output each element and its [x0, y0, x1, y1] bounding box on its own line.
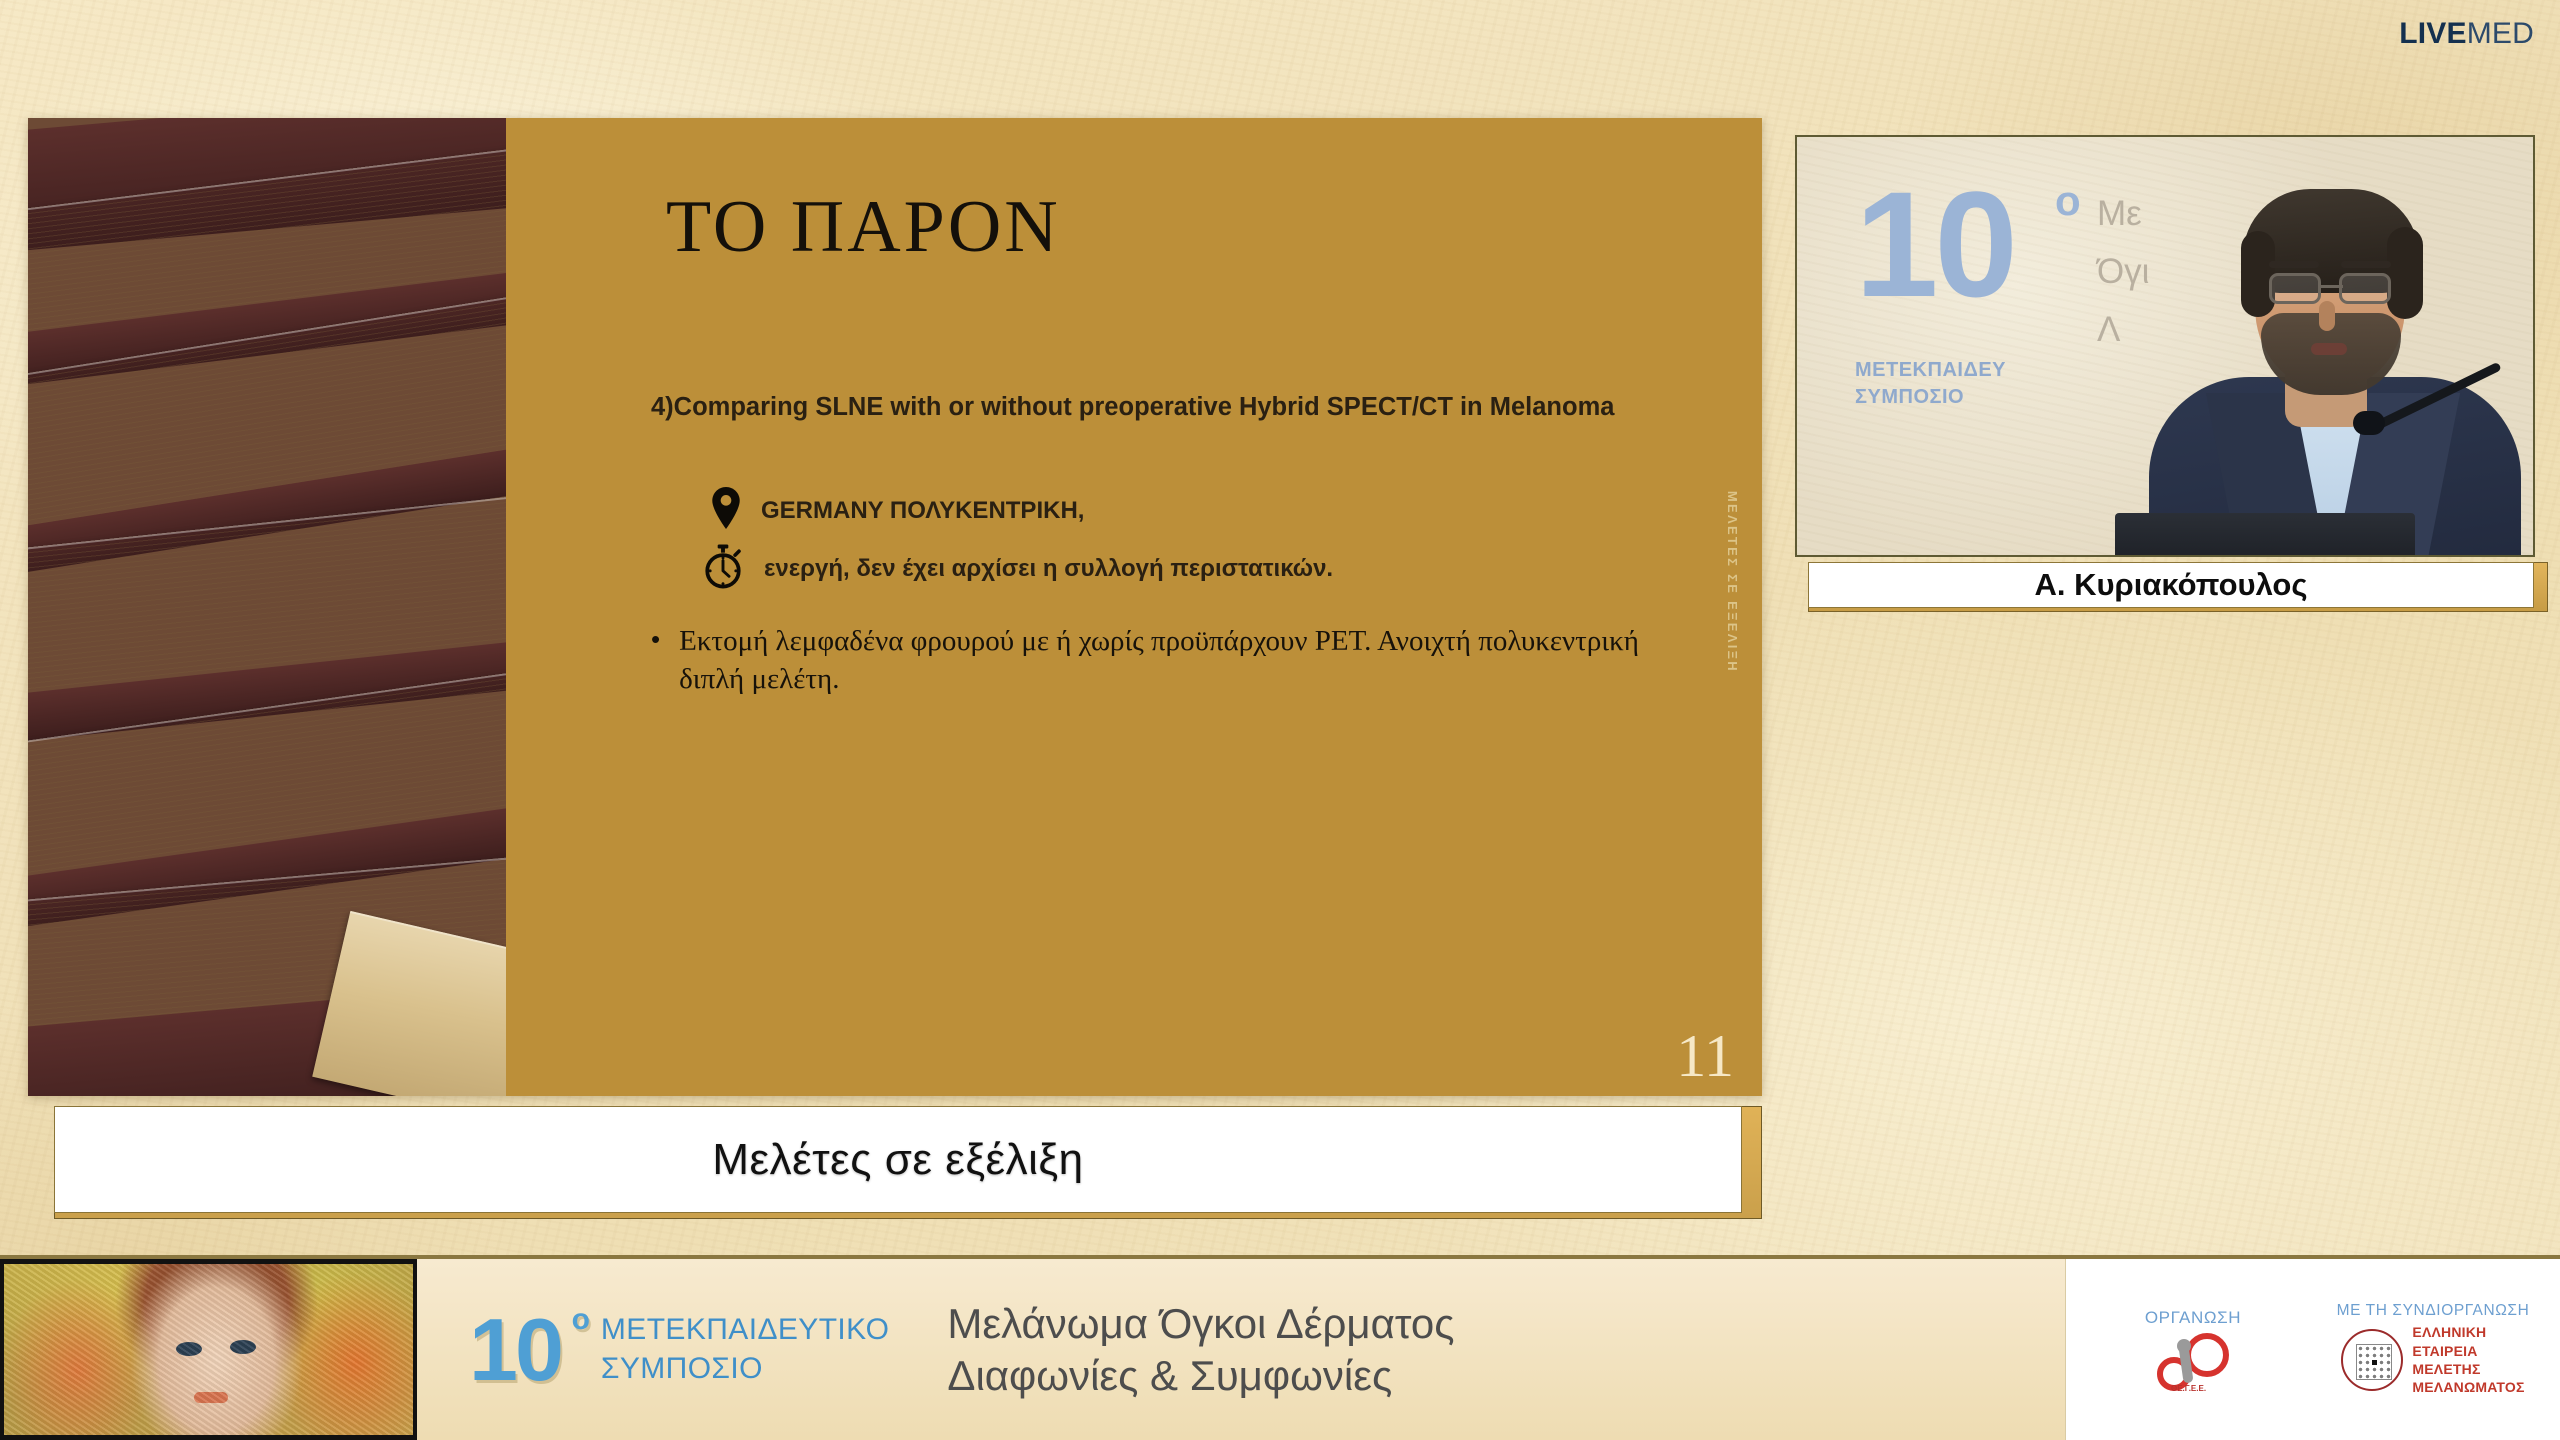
name-box: Α. Κυριακόπουλος [1808, 562, 2534, 608]
microphone-icon [2353, 411, 2385, 435]
map-pin-icon [711, 487, 741, 534]
speaker-video-feed[interactable]: 10 o ΜΕΤΕΚΠΑΙΔΕΥΣΥΜΠΟΣΙΟ ΜεΌγιΛ [1795, 135, 2535, 557]
speaker-hair-right [2387, 227, 2423, 319]
speaker-figure [2115, 161, 2535, 557]
bullet-marker: • [651, 623, 660, 698]
bottom-banner: 10 o ΜΕΤΕΚΠΑΙΔΕΥΤΙΚΟ ΣΥΜΠΟΣΙΟ Μελάνωμα Ό… [0, 1255, 2560, 1440]
caption-box: Μελέτες σε εξέλιξη [54, 1106, 1742, 1213]
theme-line-1: Μελάνωμα Όγκοι Δέρματος [947, 1298, 1454, 1349]
backdrop-number: 10 [1855, 175, 2014, 313]
organizer-label: ΟΡΓΑΝΩΣΗ [2145, 1308, 2241, 1328]
location-text: GERMANY ΠΟΛΥΚΕΝΤΡΙΚΗ, [761, 497, 1084, 525]
livemed-logo-live: LIVE [2399, 17, 2466, 50]
caption-text: Μελέτες σε εξέλιξη [712, 1135, 1083, 1185]
symposium-branding: 10 o ΜΕΤΕΚΠΑΙΔΕΥΤΙΚΟ ΣΥΜΠΟΣΙΟ Μελάνωμα Ό… [417, 1259, 2065, 1440]
caption-bar: Μελέτες σε εξέλιξη [54, 1106, 1762, 1219]
portrait-eye-right [230, 1340, 256, 1354]
speaker-name: Α. Κυριακόπουλος [2035, 567, 2308, 603]
symposium-line-2: ΣΥΜΠΟΣΙΟ [601, 1350, 890, 1388]
organizers-box: ΟΡΓΑΝΩΣΗ ΘΕ.Γ.Ε.Ε. ΜΕ ΤΗ ΣΥΝΔΙΟΡΓΑΝΩΣΗ Ε… [2065, 1259, 2560, 1440]
stopwatch-icon [702, 543, 744, 594]
speaker-name-plate: Α. Κυριακόπουλος [1808, 562, 2548, 612]
banner-number: 10 [469, 1300, 561, 1399]
coorganizer-column: ΜΕ ΤΗ ΣΥΝΔΙΟΡΓΑΝΩΣΗ ΕΛΛΗΝΙΚΗΕΤΑΙΡΕΙΑΜΕΛΕ… [2316, 1302, 2550, 1397]
slide-heading: 4)Comparing SLNE with or without preoper… [651, 391, 1651, 425]
speaker-eyebrow-left [2269, 261, 2319, 268]
speaker-nose [2319, 301, 2335, 331]
melanoma-society-seal-icon [2341, 1329, 2403, 1391]
glasses-lens-right-icon [2339, 273, 2391, 304]
livemed-logo: LIVEMED [2399, 19, 2534, 49]
location-row: GERMANY ΠΟΛΥΚΕΝΤΡΙΚΗ, [711, 487, 1084, 534]
coorganizer-name: ΕΛΛΗΝΙΚΗΕΤΑΙΡΕΙΑΜΕΛΕΤΗΣΜΕΛΑΝΩΜΑΤΟΣ [2412, 1323, 2524, 1397]
bullet-text: Εκτομή λεμφαδένα φρουρού με ή χωρίς προϋ… [679, 623, 1661, 698]
slide-vertical-label: ΜΕΛΕΤΕΣ ΣΕ ΕΞΕΛΙΞΗ [1725, 491, 1740, 673]
glasses-bridge-icon [2319, 285, 2343, 288]
slide-page-number: 11 [1676, 1026, 1734, 1086]
glasses-lens-left-icon [2269, 273, 2321, 304]
speaker-mouth [2311, 343, 2347, 355]
symposium-theme: Μελάνωμα Όγκοι Δέρματος Διαφωνίες & Συμφ… [947, 1298, 1454, 1400]
status-text: ενεργή, δεν έχει αρχίσει η συλλογή περισ… [764, 555, 1333, 583]
portrait-artwork [0, 1259, 417, 1440]
livemed-logo-med: MED [2467, 17, 2534, 50]
theme-line-2: Διαφωνίες & Συμφωνίες [947, 1350, 1454, 1401]
organizer-abbr: ΘΕ.Γ.Ε.Ε. [2171, 1384, 2206, 1393]
banner-number-group: 10 o [469, 1310, 561, 1389]
portrait-painting [4, 1264, 413, 1435]
presentation-slide[interactable]: ΤΟ ΠΑΡΟΝ 4)Comparing SLNE with or withou… [28, 118, 1762, 1096]
laptop [2115, 513, 2415, 557]
symposium-label: ΜΕΤΕΚΠΑΙΔΕΥΤΙΚΟ ΣΥΜΠΟΣΙΟ [601, 1311, 890, 1388]
portrait-lips [194, 1392, 228, 1403]
organizer-logo-icon: ΘΕ.Γ.Ε.Ε. [2157, 1331, 2229, 1391]
speaker-hair-left [2241, 231, 2275, 317]
status-row: ενεργή, δεν έχει αρχίσει η συλλογή περισ… [702, 543, 1333, 594]
slide-content: ΤΟ ΠΑΡΟΝ 4)Comparing SLNE with or withou… [506, 118, 1762, 1096]
portrait-eye-left [176, 1342, 202, 1356]
organizer-column: ΟΡΓΑΝΩΣΗ ΘΕ.Γ.Ε.Ε. [2076, 1308, 2310, 1391]
backdrop-symposium-text: ΜΕΤΕΚΠΑΙΔΕΥΣΥΜΠΟΣΙΟ [1855, 357, 2006, 411]
coorganizer-label: ΜΕ ΤΗ ΣΥΝΔΙΟΡΓΑΝΩΣΗ [2337, 1302, 2530, 1320]
slide-title: ΤΟ ΠΑΡΟΝ [666, 190, 1061, 264]
stacked-books-image [28, 118, 506, 1096]
bullet-item: • Εκτομή λεμφαδένα φρουρού με ή χωρίς πρ… [651, 623, 1661, 698]
banner-degree: o [572, 1306, 587, 1333]
coorganizer-logo-row: ΕΛΛΗΝΙΚΗΕΤΑΙΡΕΙΑΜΕΛΕΤΗΣΜΕΛΑΝΩΜΑΤΟΣ [2341, 1323, 2524, 1397]
speaker-eyebrow-right [2341, 261, 2391, 268]
backdrop-degree: o [2055, 177, 2081, 225]
symposium-line-1: ΜΕΤΕΚΠΑΙΔΕΥΤΙΚΟ [601, 1311, 890, 1349]
